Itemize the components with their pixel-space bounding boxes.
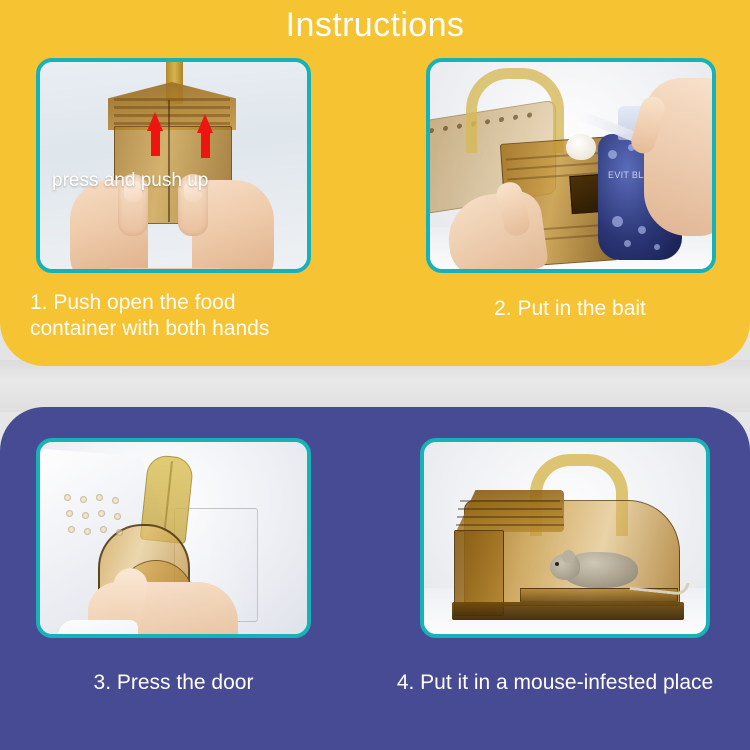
wrists bbox=[86, 268, 246, 269]
section-divider-shade bbox=[0, 360, 750, 412]
step-4-photo-frame bbox=[420, 438, 710, 638]
bait-scoop bbox=[566, 134, 596, 160]
step-3-photo-frame bbox=[36, 438, 311, 638]
vent-hole-grid bbox=[62, 494, 132, 546]
arrow-up-icon bbox=[147, 112, 164, 156]
trap-center-seam bbox=[168, 100, 170, 222]
mouse-eye bbox=[555, 562, 559, 566]
step-4-caption: 4. Put it in a mouse-infested place bbox=[360, 670, 750, 696]
page-title: Instructions bbox=[0, 6, 750, 45]
step-2-caption: 2. Put in the bait bbox=[420, 296, 720, 322]
step-3-caption: 3. Press the door bbox=[36, 670, 311, 696]
step-1-photo: press and push up bbox=[40, 62, 307, 269]
step-2-photo-frame: EVIT BLABARI bbox=[426, 58, 716, 273]
step-1-overlay-label: press and push up bbox=[52, 170, 307, 192]
step-2-photo: EVIT BLABARI bbox=[430, 62, 712, 269]
trap-base bbox=[452, 602, 684, 620]
step-4-photo bbox=[424, 442, 706, 634]
mouse-ear bbox=[562, 550, 575, 563]
step-1-photo-frame: press and push up bbox=[36, 58, 311, 273]
arrow-up-icon bbox=[197, 114, 214, 158]
sleeve bbox=[58, 620, 138, 634]
step-3-photo bbox=[40, 442, 307, 634]
instructions-infographic: Instructions bbox=[0, 0, 750, 750]
step-1-caption: 1. Push open the food container with bot… bbox=[30, 290, 350, 342]
trap-roof bbox=[108, 82, 236, 130]
